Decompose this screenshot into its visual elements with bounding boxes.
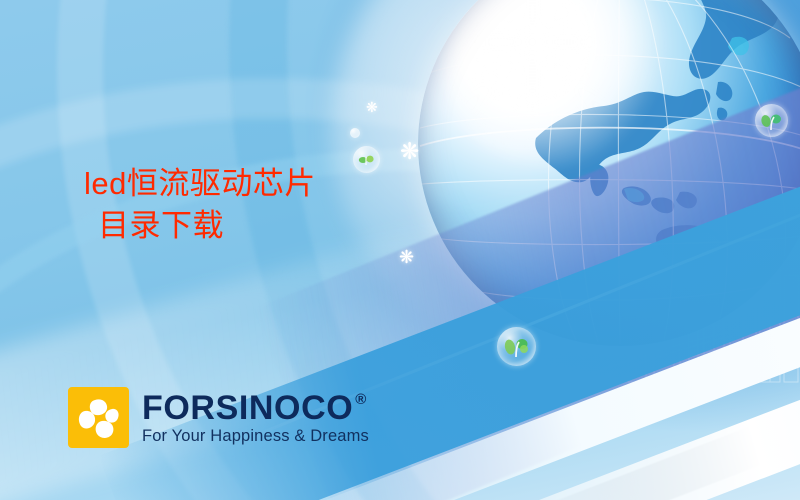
asterisk-flower-3-icon: ❋ (399, 248, 414, 266)
pinwheel-petals-icon (68, 387, 129, 448)
asterisk-flower-1-icon: ❋ (366, 100, 378, 114)
logo-wordmark-row: FORSINOCO ® (142, 391, 369, 425)
logo-tagline: For Your Happiness & Dreams (142, 428, 369, 445)
bubble-sprout-1 (353, 146, 380, 173)
headline: led恒流驱动芯片 目录下载 (84, 163, 316, 246)
asterisk-flower-2-icon: ❋ (400, 140, 419, 163)
earth-globe (418, 0, 800, 346)
bubble-small-4 (350, 128, 360, 138)
headline-line-2: 目录下载 (84, 205, 316, 247)
bubble-sprout-3 (755, 104, 788, 137)
registered-trademark-icon: ® (355, 392, 367, 407)
brand-logo[interactable]: FORSINOCO ® For Your Happiness & Dreams (68, 387, 369, 448)
promo-banner: ❋ ❋ ❋ led恒流驱动芯片 目录下载 (0, 0, 800, 500)
bubble-sprout-2 (497, 327, 536, 366)
headline-line-1: led恒流驱动芯片 (84, 163, 316, 205)
logo-text-block: FORSINOCO ® For Your Happiness & Dreams (142, 391, 369, 445)
logo-wordmark: FORSINOCO (142, 391, 353, 425)
